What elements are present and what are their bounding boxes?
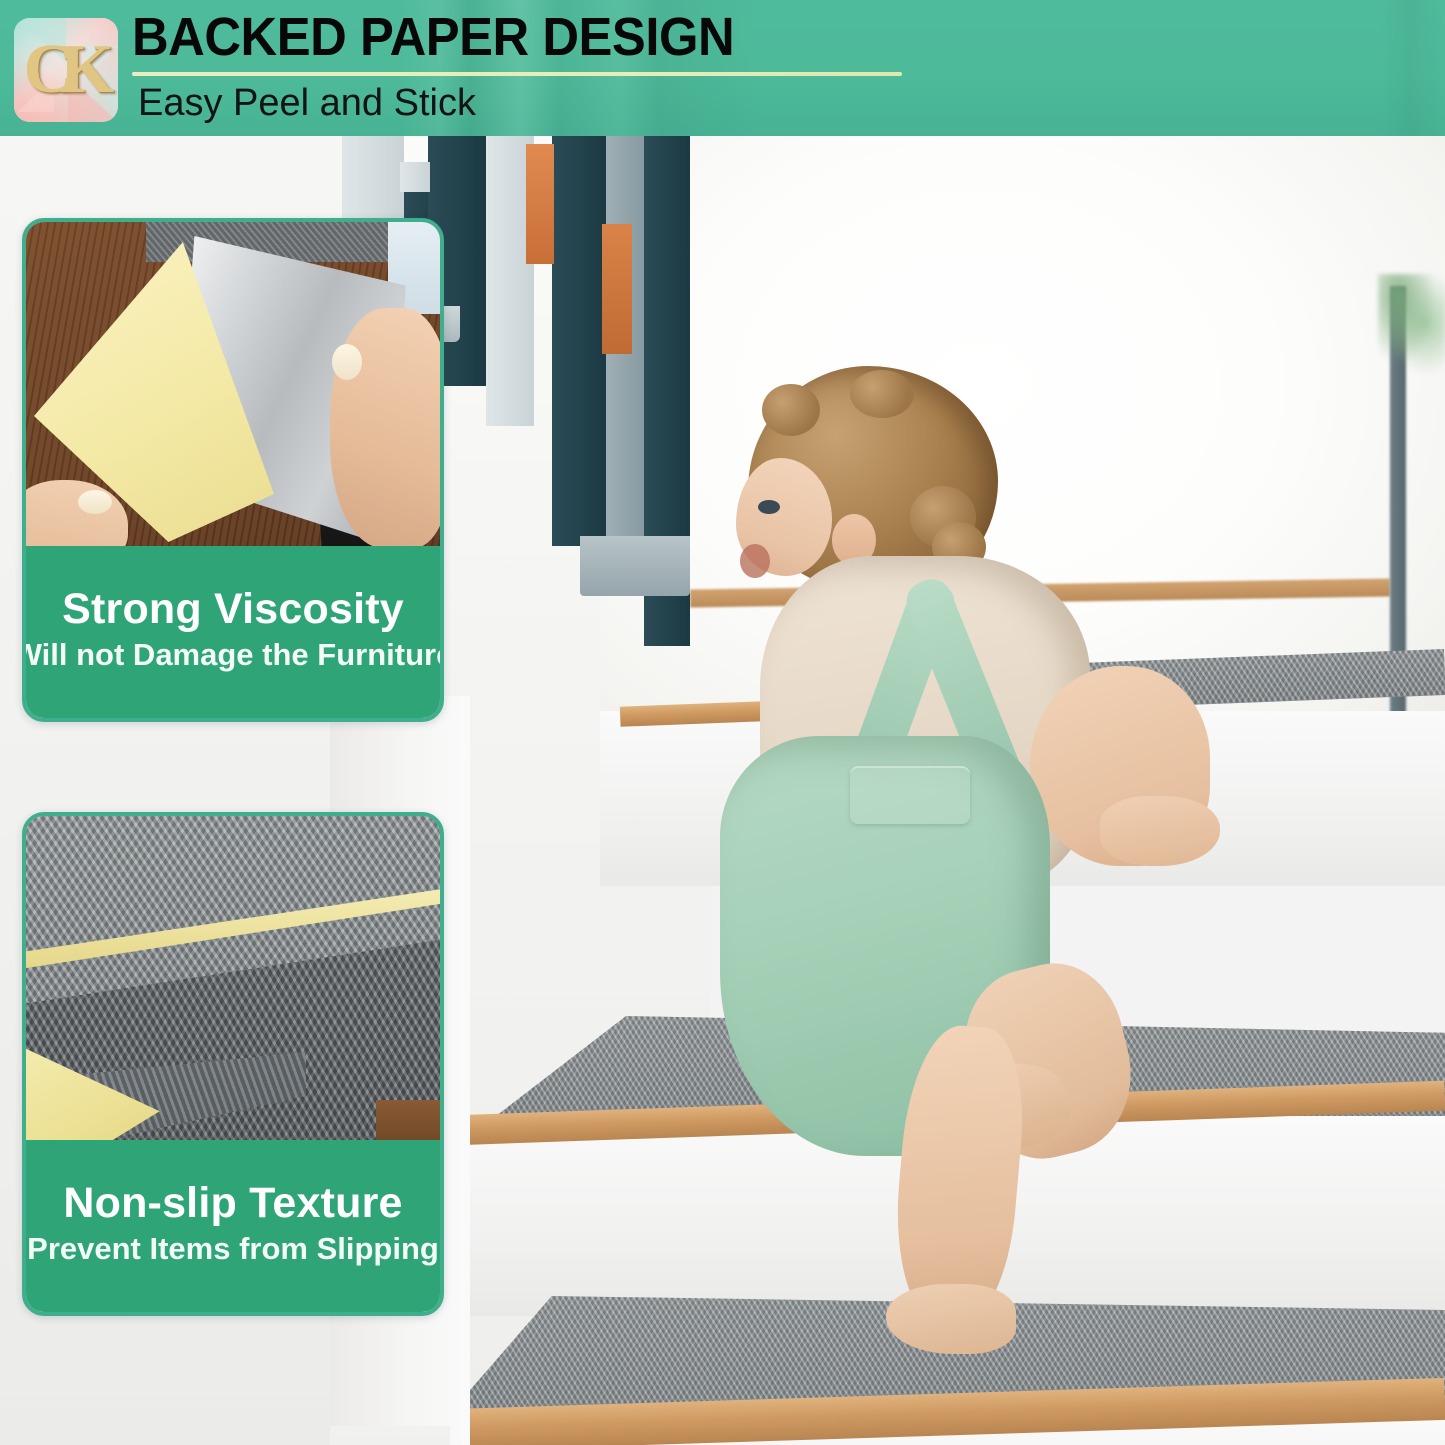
panel-title: Strong Viscosity	[62, 586, 404, 632]
overall-pocket	[850, 766, 970, 824]
baluster	[400, 162, 430, 192]
hair-curl	[762, 384, 820, 436]
page-subtitle: Easy Peel and Stick	[138, 80, 476, 128]
back-foot	[886, 1284, 1016, 1354]
hand	[1100, 796, 1220, 866]
panel-title: Non-slip Texture	[63, 1180, 402, 1226]
eye	[758, 500, 780, 514]
panel-subtitle: Will not Damage the Furniture	[22, 638, 444, 672]
fingernail	[78, 490, 112, 514]
peel-backing-paper-photo	[26, 222, 440, 546]
page-title: BACKED PAPER DESIGN	[132, 10, 734, 64]
toddler-figure	[700, 366, 1260, 1386]
hair-curl	[850, 370, 914, 418]
baluster	[552, 136, 606, 546]
railing-base	[580, 536, 690, 596]
mouth	[740, 544, 770, 578]
non-slip-texture-closeup-photo	[26, 816, 440, 1140]
feature-panel-non-slip-texture: Non-slip Texture Prevent Items from Slip…	[22, 812, 444, 1316]
logo-monogram: CK	[14, 18, 118, 122]
foreground-wall-edge	[330, 1426, 450, 1445]
railing-wood-accent	[602, 224, 632, 354]
header-text-block: BACKED PAPER DESIGN Easy Peel and Stick	[132, 0, 1445, 136]
fingernail	[332, 344, 362, 380]
wood-corner	[376, 1100, 440, 1140]
railing-wood-accent	[526, 144, 554, 264]
panel-caption: Non-slip Texture Prevent Items from Slip…	[26, 1140, 440, 1312]
title-underline	[132, 72, 902, 76]
header-banner: CK BACKED PAPER DESIGN Easy Peel and Sti…	[0, 0, 1445, 136]
brand-logo: CK	[14, 18, 118, 122]
plant-icon	[1378, 274, 1445, 384]
panel-subtitle: Prevent Items from Slipping	[27, 1232, 439, 1266]
baluster	[606, 136, 646, 596]
feature-panel-strong-viscosity: Strong Viscosity Will not Damage the Fur…	[22, 218, 444, 722]
panel-caption: Strong Viscosity Will not Damage the Fur…	[26, 546, 440, 718]
product-infographic: CK BACKED PAPER DESIGN Easy Peel and Sti…	[0, 0, 1445, 1445]
